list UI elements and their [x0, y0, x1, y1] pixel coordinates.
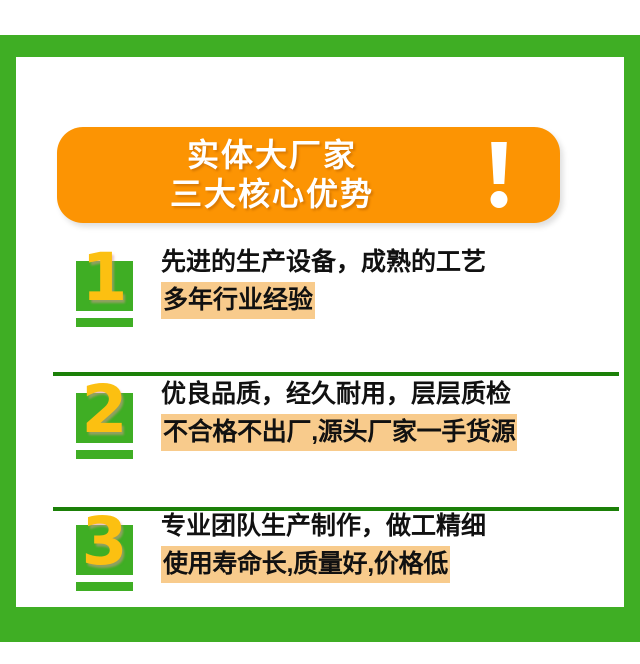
feature-primary-line: 专业团队生产制作，做工精细 — [161, 506, 619, 546]
header-banner: 实体大厂家 三大核心优势 — [57, 127, 560, 223]
feature-primary-line: 优良品质，经久耐用，层层质检 — [161, 374, 619, 414]
feature-number-badge: 3 — [76, 506, 140, 602]
feature-text-block: 优良品质，经久耐用，层层质检 不合格不出厂,源头厂家一手货源 — [161, 374, 619, 451]
feature-row: 3 专业团队生产制作，做工精细 使用寿命长,质量好,价格低 — [53, 506, 619, 602]
badge-underline-bar — [76, 582, 133, 591]
poster-frame: 实体大厂家 三大核心优势 1 先进的生产设备，成熟的工艺 多年行业经验 — [0, 35, 640, 642]
badge-number: 1 — [76, 238, 133, 318]
feature-highlight-line: 不合格不出厂,源头厂家一手货源 — [161, 414, 517, 451]
badge-underline-bar — [76, 318, 133, 327]
feature-highlight-wrap: 不合格不出厂,源头厂家一手货源 — [161, 414, 619, 451]
feature-row: 1 先进的生产设备，成熟的工艺 多年行业经验 — [53, 242, 619, 338]
feature-number-badge: 1 — [76, 242, 140, 338]
feature-highlight-line: 使用寿命长,质量好,价格低 — [161, 546, 450, 583]
exclamation-mark-icon — [487, 142, 511, 208]
poster-inner-panel: 实体大厂家 三大核心优势 1 先进的生产设备，成熟的工艺 多年行业经验 — [16, 57, 624, 607]
feature-highlight-wrap: 使用寿命长,质量好,价格低 — [161, 546, 619, 583]
feature-text-block: 专业团队生产制作，做工精细 使用寿命长,质量好,价格低 — [161, 506, 619, 583]
feature-number-badge: 2 — [76, 374, 140, 470]
badge-number: 3 — [76, 502, 133, 582]
feature-row: 2 优良品质，经久耐用，层层质检 不合格不出厂,源头厂家一手货源 — [53, 374, 619, 470]
header-title: 实体大厂家 三大核心优势 — [57, 136, 487, 214]
feature-text-block: 先进的生产设备，成熟的工艺 多年行业经验 — [161, 242, 619, 319]
feature-highlight-wrap: 多年行业经验 — [161, 282, 619, 319]
badge-underline-bar — [76, 450, 133, 459]
feature-highlight-line: 多年行业经验 — [161, 282, 315, 319]
badge-number: 2 — [76, 370, 133, 450]
feature-primary-line: 先进的生产设备，成熟的工艺 — [161, 242, 619, 282]
